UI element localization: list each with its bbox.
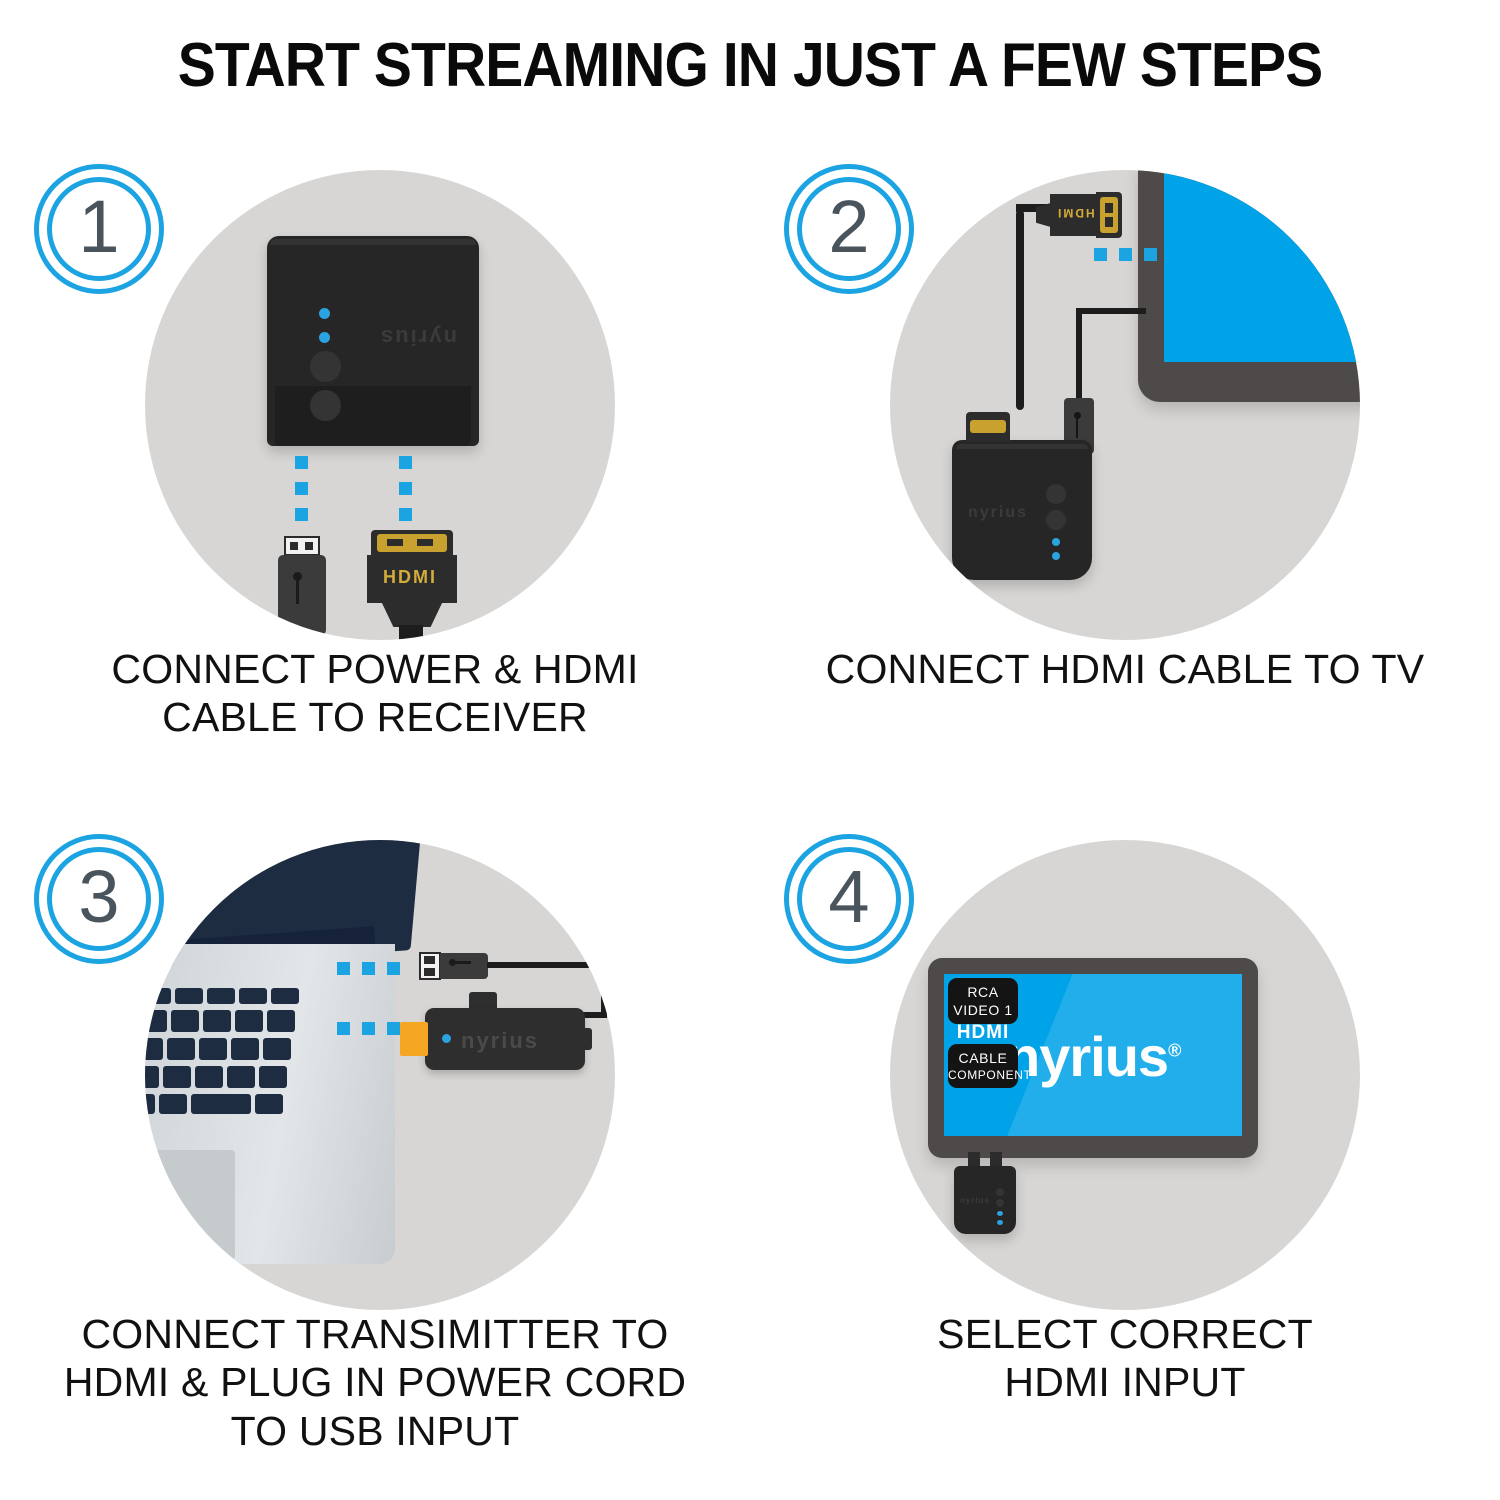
step-badge-2: 2 [784,164,914,294]
caption-line: CONNECT POWER & HDMI [0,645,750,693]
tv-screen-4: nyrius® RCA VIDEO 1 HDMI CABLE COMPONENT [944,974,1242,1136]
tv-brand-logo: nyrius® [1006,1024,1180,1089]
led-indicator-a [319,308,330,319]
caption-line: CONNECT HDMI CABLE TO TV [750,645,1500,693]
dongle-hdmi-tip [400,1022,428,1056]
menu-item-video1[interactable]: VIDEO 1 [948,1001,1018,1019]
led-indicator-b [319,332,330,343]
brand-logo-4: nyrius [960,1196,990,1205]
laptop-keyboard[interactable] [145,988,341,1133]
input-menu-upper[interactable]: RCA VIDEO 1 [948,978,1018,1024]
tv-screen-2 [1164,170,1360,362]
caption-line: CONNECT TRANSIMITTER TO [0,1310,750,1358]
transmitter-dongle: nyrius [425,1008,585,1070]
usb-cable-horizontal-2 [1076,308,1146,314]
menu-item-rca[interactable]: RCA [948,983,1018,1001]
step-number-4: 4 [828,860,869,934]
hdmi-cable-2 [1016,210,1024,410]
step-panel-1: 1 nyrius [0,140,750,810]
step-badge-4: 4 [784,834,914,964]
caption-line: TO USB INPUT [0,1407,750,1455]
step-1-illustration: nyrius [145,170,615,640]
step-panel-4: 4 nyrius® RCA VIDEO 1 HDMI CABLE [750,810,1500,1480]
input-menu-lower[interactable]: CABLE COMPONENT [948,1044,1018,1088]
hdmi-plug-label-1: HDMI [383,567,437,588]
step-badge-3: 3 [34,834,164,964]
device-button-b[interactable] [310,390,341,421]
power-cord-vertical-3 [601,962,607,1018]
led-indicator-b-2 [1052,552,1060,560]
menu-item-hdmi-selected[interactable]: HDMI [948,1022,1018,1044]
step-panel-3: 3 [0,810,750,1480]
step-number-2: 2 [828,190,869,264]
step-caption-4: SELECT CORRECT HDMI INPUT [750,1310,1500,1407]
tv-set: nyrius® RCA VIDEO 1 HDMI CABLE COMPONENT [928,958,1258,1158]
steps-grid: 1 nyrius [0,0,1500,1500]
brand-logo-2: nyrius [968,504,1028,522]
step-caption-3: CONNECT TRANSIMITTER TO HDMI & PLUG IN P… [0,1310,750,1455]
step-4-illustration: nyrius® RCA VIDEO 1 HDMI CABLE COMPONENT [890,840,1360,1310]
caption-line: HDMI & PLUG IN POWER CORD [0,1358,750,1406]
usb-cable-vertical-2 [1076,308,1082,404]
led-indicator-a-4 [997,1211,1003,1216]
step-panel-2: 2 HDMI [750,140,1500,810]
step-number-1: 1 [78,190,119,264]
caption-line: HDMI INPUT [750,1358,1500,1406]
step-caption-2: CONNECT HDMI CABLE TO TV [750,645,1500,693]
hdmi-plug-label-2: HDMI [1056,206,1095,220]
receiver-device-2: nyrius [952,440,1092,580]
step-number-3: 3 [78,860,119,934]
led-indicator-a-2 [1052,538,1060,546]
menu-item-component[interactable]: COMPONENT [948,1067,1018,1083]
led-indicator-b-4 [997,1220,1003,1225]
laptop-trackpad[interactable] [145,1150,235,1260]
step-badge-1: 1 [34,164,164,294]
receiver-device-4: nyrius [954,1166,1016,1234]
step-2-illustration: HDMI nyrius [890,170,1360,640]
step-caption-1: CONNECT POWER & HDMI CABLE TO RECEIVER [0,645,750,742]
registered-mark: ® [1168,1040,1180,1060]
step-3-illustration: nyrius [145,840,615,1310]
device-button-a[interactable] [310,351,341,382]
caption-line: CABLE TO RECEIVER [0,693,750,741]
menu-item-cable[interactable]: CABLE [948,1049,1018,1067]
device-button-b-4[interactable] [996,1199,1004,1207]
hdmi-gold-strip-2 [970,420,1006,433]
brand-logo-1: nyrius [379,324,457,350]
brand-logo-3: nyrius [461,1028,539,1054]
receiver-device-1: nyrius [267,236,479,446]
power-cord-horizontal-3 [487,962,607,968]
tv-corner [1138,170,1360,402]
device-button-a-4[interactable] [996,1188,1004,1196]
caption-line: SELECT CORRECT [750,1310,1500,1358]
device-button-a-2[interactable] [1046,484,1066,504]
dongle-led [442,1034,451,1043]
device-button-b-2[interactable] [1046,510,1066,530]
